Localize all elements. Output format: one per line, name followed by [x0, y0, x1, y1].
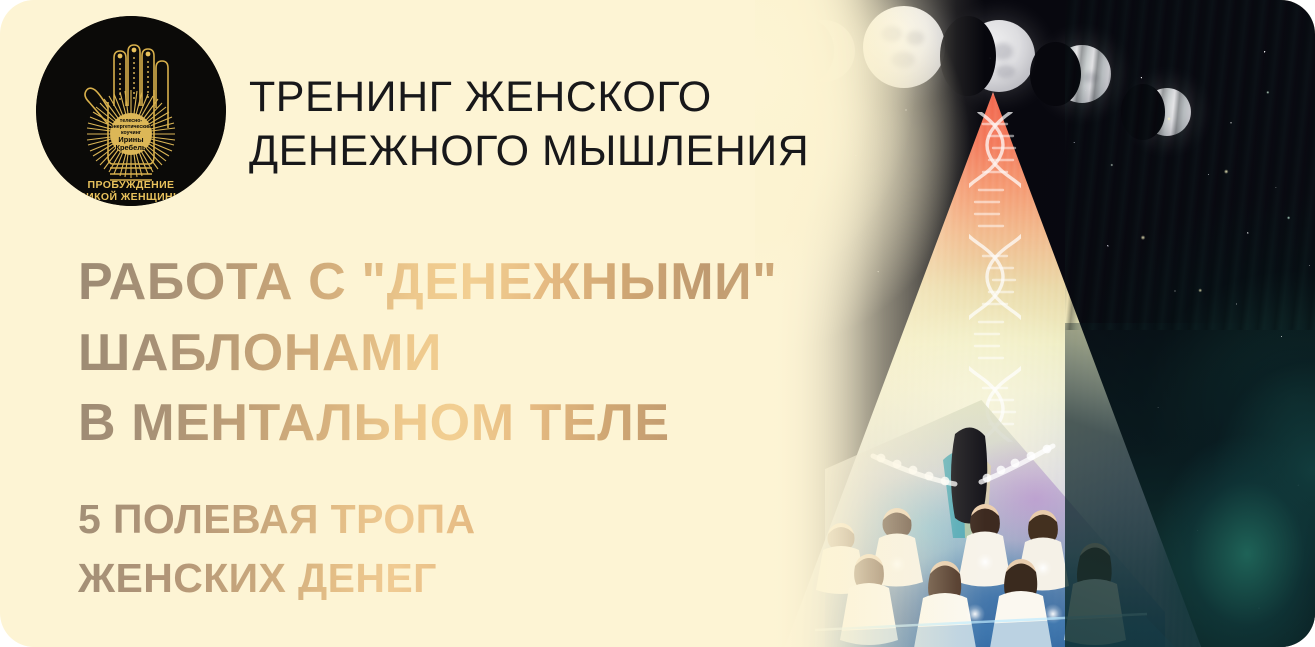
lesson-subtitle: 5 ПОЛЕВАЯ ТРОПА ЖЕНСКИХ ДЕНЕГ	[78, 490, 838, 609]
logo-center-line-2: энергетический	[111, 123, 151, 130]
logo-bottom-line-1: ПРОБУЖДЕНИЕ	[88, 179, 175, 191]
content-panel: телесно- энергетический коучинг Ирины Кр…	[0, 0, 960, 647]
main-title: РАБОТА С "ДЕНЕЖНЫМИ" ШАБЛОНАМИ В МЕНТАЛЬ…	[78, 247, 958, 459]
logo-bottom-line-2: ДИКОЙ ЖЕНЩИНЫ	[78, 190, 183, 203]
page-headline: ТРЕНИНГ ЖЕНСКОГО ДЕНЕЖНОГО МЫШЛЕНИЯ	[249, 70, 949, 178]
logo-artwork: телесно- энергетический коучинг Ирины Кр…	[36, 16, 226, 206]
logo-center-line-5: Кребель	[116, 143, 147, 152]
brand-logo[interactable]: телесно- энергетический коучинг Ирины Кр…	[36, 16, 226, 206]
training-banner: телесно- энергетический коучинг Ирины Кр…	[0, 0, 1315, 647]
